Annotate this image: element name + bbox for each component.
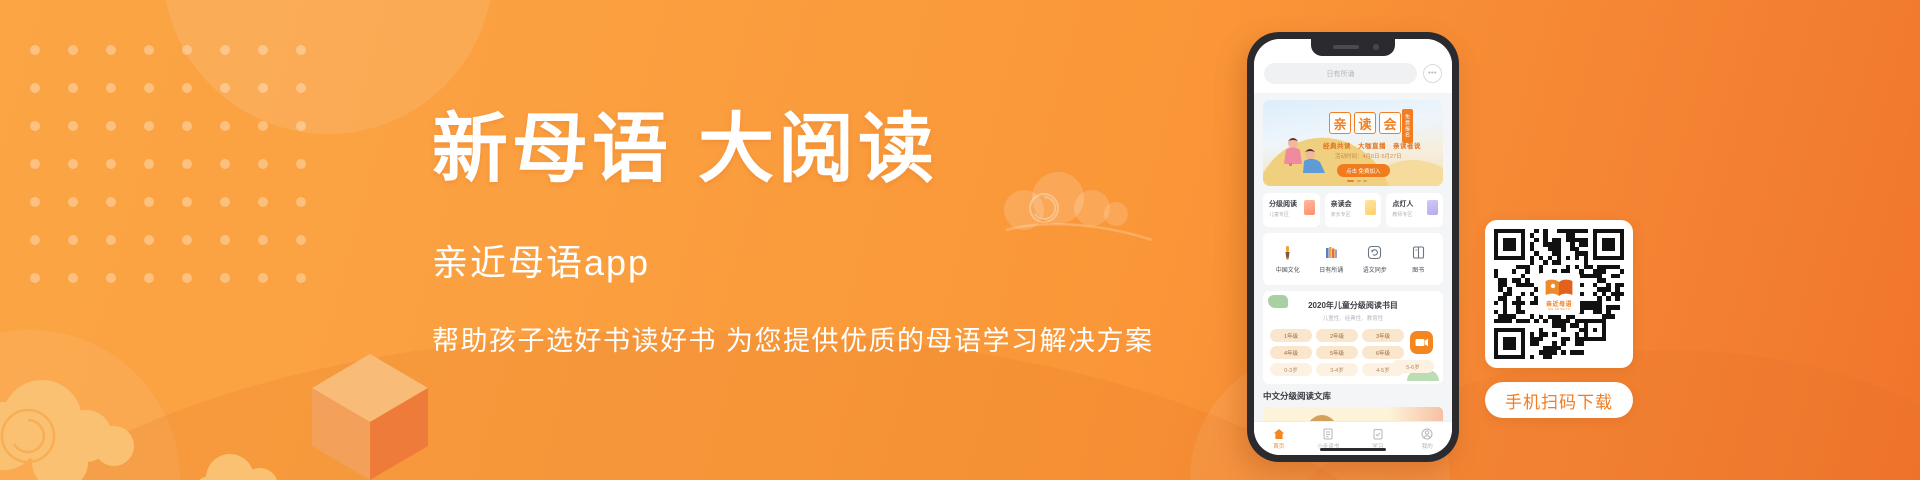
- search-input[interactable]: 日有所诵: [1264, 63, 1417, 84]
- tab-reading[interactable]: 小步读书: [1304, 427, 1354, 450]
- hero-subitems: 经典共读 大咖直播 亲读者说: [1323, 140, 1421, 150]
- hero-ribbon: 免费报名: [1402, 109, 1413, 143]
- grade-chips: 1年级 2年级 3年级 4年级 5年级 6年级 0-3岁 3-4岁 4-5岁: [1270, 329, 1404, 376]
- age-chip[interactable]: 5-6岁: [1392, 360, 1434, 373]
- booklist-title: 2020年儿童分级阅读书目: [1270, 300, 1436, 311]
- category-icon-row: 中国文化 日有所诵: [1263, 233, 1443, 285]
- clipboard-icon: [1371, 427, 1384, 440]
- qr-block: 亲近母语 QIN JIN MU YU 手机扫码下载: [1485, 220, 1633, 418]
- grade-chip[interactable]: 3年级: [1362, 329, 1404, 342]
- phone-notch: [1311, 39, 1395, 56]
- grade-chip[interactable]: 6年级: [1362, 346, 1404, 359]
- hero-title: 亲 读 会: [1329, 112, 1401, 134]
- phone-screen: 日有所诵 •••: [1254, 39, 1452, 455]
- tab-home[interactable]: 首页: [1254, 427, 1304, 450]
- grade-chip[interactable]: 4年级: [1270, 346, 1312, 359]
- hero-join-button[interactable]: 点击 免费加入: [1337, 164, 1390, 177]
- category-chinese-culture[interactable]: 中国文化: [1266, 244, 1310, 274]
- page-title: 新母语大阅读: [432, 112, 1192, 188]
- decor-cube: [310, 350, 430, 480]
- category-books[interactable]: 图书: [1397, 244, 1441, 274]
- promo-banner: 新母语大阅读 亲近母语app 帮助孩子选好书读好书 为您提供优质的母语学习解决方…: [0, 0, 1920, 480]
- tab-study[interactable]: 学习: [1353, 427, 1403, 450]
- booklist-card[interactable]: 2020年儿童分级阅读书目 儿童性、经典性、教育性 1年级 2年级 3年级 4年…: [1263, 291, 1443, 384]
- bookmark-purple-icon: [1427, 200, 1438, 215]
- home-indicator: [1320, 448, 1386, 451]
- grade-chip[interactable]: 5年级: [1316, 346, 1358, 359]
- qr-logo-text: 亲近母语: [1546, 299, 1572, 308]
- qr-logo-en: QIN JIN MU YU: [1548, 308, 1570, 311]
- phone-mockup: 日有所诵 •••: [1247, 32, 1459, 462]
- tab-label: 首页: [1254, 442, 1304, 450]
- video-play-icon[interactable]: [1410, 331, 1433, 354]
- brush-icon: [1279, 244, 1296, 261]
- search-row: 日有所诵 •••: [1264, 63, 1442, 84]
- sync-icon: [1366, 244, 1383, 261]
- book-icon: [1410, 244, 1427, 261]
- zone-card-teacher[interactable]: 点灯人 教师专区: [1386, 193, 1443, 227]
- hero-subitem-1: 经典共读: [1323, 140, 1351, 150]
- qr-code: 亲近母语 QIN JIN MU YU: [1494, 229, 1624, 359]
- app-name: 亲近母语app: [432, 234, 1192, 286]
- hero-subitem-2: 大咖直播: [1358, 140, 1386, 150]
- bookmark-red-icon: [1304, 200, 1315, 215]
- decor-cloud-small: [200, 440, 290, 480]
- kid-illustration-2: [1301, 147, 1331, 173]
- zone-card-parent[interactable]: 亲读会 家长专区: [1325, 193, 1382, 227]
- banner-tagline: 帮助孩子选好书读好书 为您提供优质的母语学习解决方案: [432, 319, 1192, 358]
- category-label: 日有所诵: [1310, 265, 1354, 274]
- banner-copy: 新母语大阅读 亲近母语app 帮助孩子选好书读好书 为您提供优质的母语学习解决方…: [432, 112, 1192, 358]
- grade-chip[interactable]: 1年级: [1270, 329, 1312, 342]
- category-label: 语文同步: [1353, 265, 1397, 274]
- download-button[interactable]: 手机扫码下载: [1485, 382, 1633, 418]
- category-textbook-sync[interactable]: 语文同步: [1353, 244, 1397, 274]
- zone-cards: 分级阅读 儿童专区 亲读会 家长专区 点灯人 教师专区: [1263, 193, 1443, 227]
- bookmark-yellow-icon: [1365, 200, 1376, 215]
- decor-cloud-bottom-left: [0, 358, 180, 480]
- decor-circle-bottom-left: [0, 330, 180, 480]
- qr-center-logo: 亲近母语 QIN JIN MU YU: [1538, 273, 1580, 315]
- category-label: 中国文化: [1266, 265, 1310, 274]
- booklist-subtitle: 儿童性、经典性、教育性: [1270, 314, 1436, 322]
- tab-label: 我的: [1403, 442, 1453, 450]
- decor-dot-grid: [30, 45, 334, 311]
- book-logo-icon: [1544, 278, 1574, 298]
- list-icon: [1322, 427, 1335, 440]
- profile-icon: [1421, 427, 1434, 440]
- app-hero-banner[interactable]: 亲 读 会 免费报名 经典共读 大咖直播 亲读者说 活动时间：4月6日-5月27…: [1263, 100, 1443, 186]
- category-daily-recitation[interactable]: 日有所诵: [1310, 244, 1354, 274]
- books-icon: [1323, 244, 1340, 261]
- tab-profile[interactable]: 我的: [1403, 427, 1453, 450]
- category-label: 图书: [1397, 265, 1441, 274]
- hero-char-1: 亲: [1329, 112, 1351, 134]
- headline-part-1: 新母语: [432, 108, 672, 192]
- library-title: 中文分级阅读文库: [1263, 390, 1443, 402]
- zone-card-graded-reading[interactable]: 分级阅读 儿童专区: [1263, 193, 1320, 227]
- headline-part-2: 大阅读: [698, 108, 938, 192]
- hero-char-2: 读: [1354, 112, 1376, 134]
- qr-code-card: 亲近母语 QIN JIN MU YU: [1485, 220, 1633, 368]
- hero-char-3: 会: [1379, 112, 1401, 134]
- more-dots-icon[interactable]: •••: [1423, 64, 1442, 83]
- hero-subitem-3: 亲读者说: [1393, 140, 1421, 150]
- age-chip[interactable]: 0-3岁: [1270, 363, 1312, 376]
- hero-pager[interactable]: [1347, 180, 1367, 183]
- age-chip[interactable]: 3-4岁: [1316, 363, 1358, 376]
- hero-date: 活动时间：4月6日-5月27日: [1335, 152, 1402, 160]
- home-icon: [1272, 427, 1285, 440]
- grade-chip[interactable]: 2年级: [1316, 329, 1358, 342]
